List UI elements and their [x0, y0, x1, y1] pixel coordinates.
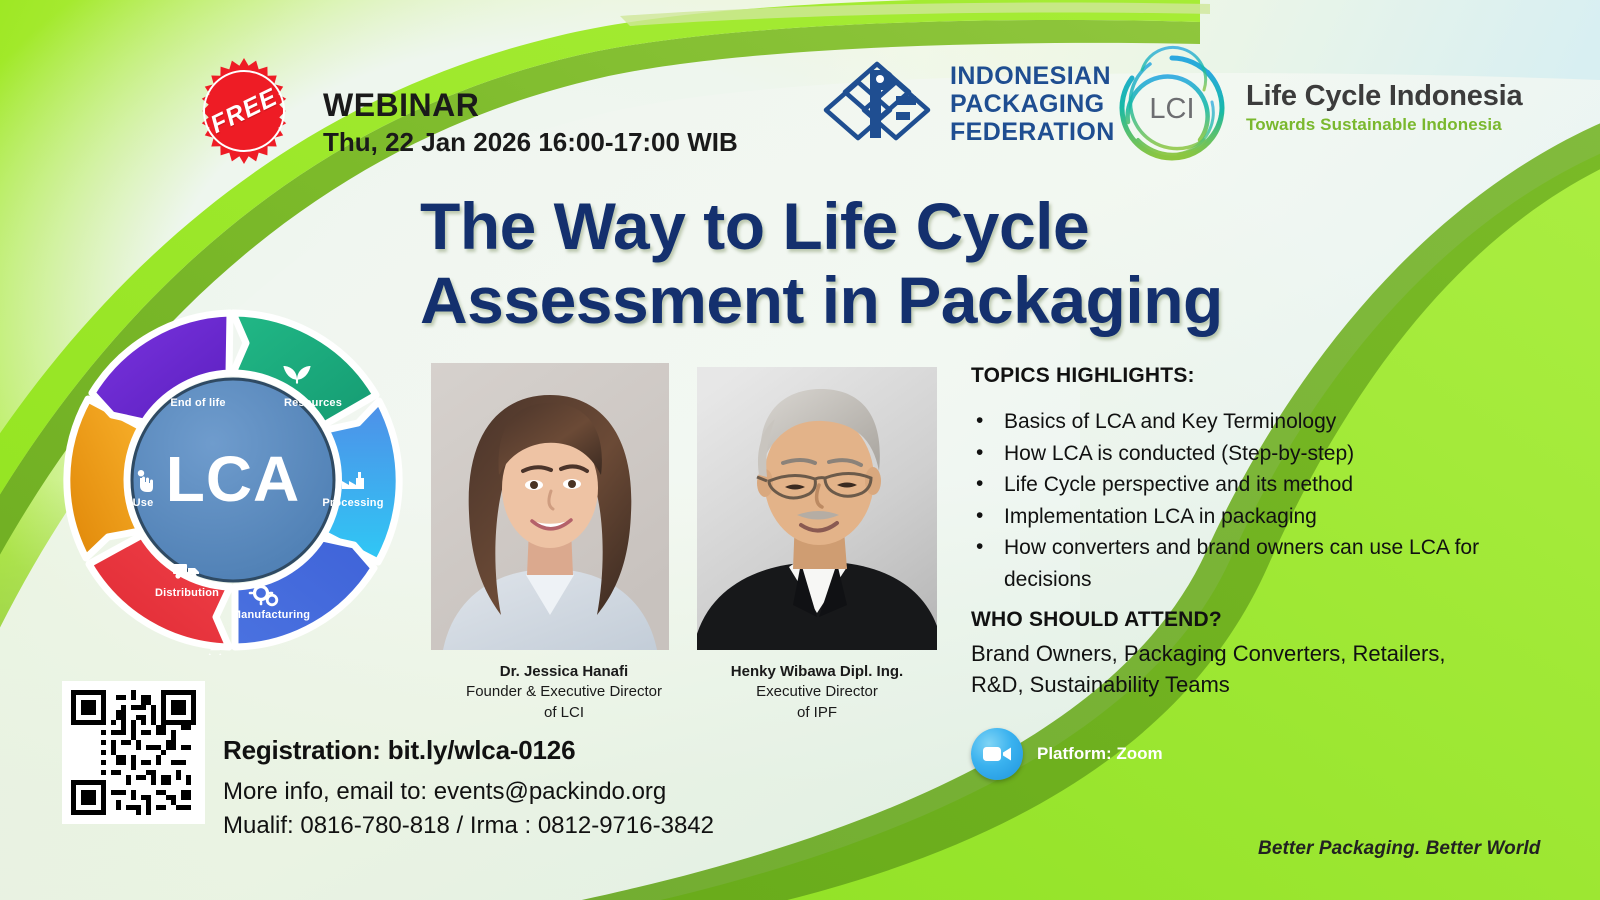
webinar-header: WEBINAR Thu, 22 Jan 2026 16:00-17:00 WIB [323, 88, 738, 158]
topic-text: Life Cycle perspective and its method [1004, 473, 1353, 496]
topic-item: •How converters and brand owners can use… [971, 532, 1491, 595]
registration-email: More info, email to: events@packindo.org [223, 775, 714, 809]
topic-item: •Life Cycle perspective and its method [971, 469, 1491, 501]
topics-heading: TOPICS HIGHLIGHTS: [971, 364, 1195, 388]
lci-tagline: Towards Sustainable Indonesia [1246, 115, 1522, 135]
ipf-line-1: INDONESIAN [950, 62, 1115, 90]
wheel-label-distribution: Distribution [142, 587, 232, 599]
footer-tagline: Better Packaging. Better World [1258, 838, 1540, 860]
free-badge: FREE [189, 56, 299, 166]
speaker-1-name: Dr. Jessica Hanafi [431, 662, 697, 682]
webinar-label: WEBINAR [323, 88, 738, 124]
registration-phones: Mualif: 0816-780-818 / Irma : 0812-9716-… [223, 809, 714, 843]
wheel-label-manufacturing: Manufacturing [226, 609, 316, 621]
webinar-datetime: Thu, 22 Jan 2026 16:00-17:00 WIB [323, 126, 738, 159]
speaker-2-role-line-1: Executive Director [697, 682, 937, 702]
lci-mark-text: LCI [1149, 93, 1194, 125]
bullet-glyph: • [976, 531, 983, 563]
wheel-label-use: Use [113, 497, 173, 509]
registration-link[interactable]: Registration: bit.ly/wlca-0126 [223, 735, 575, 766]
jessica-hanafi-portrait [431, 363, 669, 650]
lci-logo-text: Life Cycle Indonesia Towards Sustainable… [1246, 81, 1522, 135]
audience-heading: WHO SHOULD ATTEND? [971, 608, 1222, 632]
bullet-glyph: • [976, 500, 983, 532]
ipf-logo-text: INDONESIAN PACKAGING FEDERATION [950, 62, 1115, 147]
lca-lifecycle-wheel: LCA Resources Processing Manufacturing D… [58, 305, 408, 655]
topic-item: •How LCA is conducted (Step-by-step) [971, 438, 1491, 470]
henky-wibawa-portrait [697, 367, 937, 650]
speaker-2-role-line-2: of IPF [697, 703, 937, 723]
video-camera-glyph [982, 744, 1012, 764]
ipf-logo: INDONESIAN PACKAGING FEDERATION [818, 52, 1115, 156]
wheel-label-resources: Resources [273, 397, 353, 409]
webinar-poster: FREE WEBINAR Thu, 22 Jan 2026 16:00-17:0… [0, 0, 1600, 900]
topic-item: •Implementation LCA in packaging [971, 501, 1491, 533]
bullet-glyph: • [976, 437, 983, 469]
speaker-2-name: Henky Wibawa Dipl. Ing. [697, 662, 937, 682]
topic-text: How converters and brand owners can use … [1004, 536, 1479, 591]
speaker-caption-2: Henky Wibawa Dipl. Ing. Executive Direct… [697, 662, 937, 723]
zoom-camera-icon [971, 728, 1023, 780]
platform-label: Platform: Zoom [1037, 744, 1163, 764]
lci-circles-logo-icon: LCI [1108, 44, 1236, 172]
speaker-photo-henky-wibawa [697, 367, 937, 650]
speaker-photo-jessica-hanafi [431, 363, 669, 650]
platform-row: Platform: Zoom [971, 728, 1163, 780]
topic-text: How LCA is conducted (Step-by-step) [1004, 442, 1354, 465]
lci-logo: LCI Life Cycle Indonesia Towards Sustain… [1108, 44, 1522, 172]
audience-body: Brand Owners, Packaging Converters, Reta… [971, 639, 1451, 701]
ipf-line-3: FEDERATION [950, 118, 1115, 146]
topic-text: Implementation LCA in packaging [1004, 505, 1317, 528]
wheel-label-end-of-life: End of life [153, 397, 243, 409]
qr-code-graphic [71, 690, 196, 815]
ipf-line-2: PACKAGING [950, 90, 1115, 118]
lci-name: Life Cycle Indonesia [1246, 81, 1522, 113]
ipf-cube-logo-icon [818, 52, 936, 156]
page-title: The Way to Life Cycle Assessment in Pack… [420, 190, 1340, 338]
title-line-2: Assessment in Packaging [420, 264, 1340, 338]
registration-qr-code[interactable] [62, 681, 205, 824]
topics-list: •Basics of LCA and Key Terminology •How … [971, 406, 1491, 595]
wheel-label-processing: Processing [313, 497, 393, 509]
bullet-glyph: • [976, 468, 983, 500]
speaker-1-role-line-2: of LCI [431, 703, 697, 723]
speaker-1-role-line-1: Founder & Executive Director [431, 682, 697, 702]
title-line-1: The Way to Life Cycle [420, 190, 1340, 264]
registration-contacts: More info, email to: events@packindo.org… [223, 775, 714, 843]
topic-item: •Basics of LCA and Key Terminology [971, 406, 1491, 438]
bullet-glyph: • [976, 405, 983, 437]
speaker-caption-1: Dr. Jessica Hanafi Founder & Executive D… [431, 662, 697, 723]
topic-text: Basics of LCA and Key Terminology [1004, 410, 1336, 433]
